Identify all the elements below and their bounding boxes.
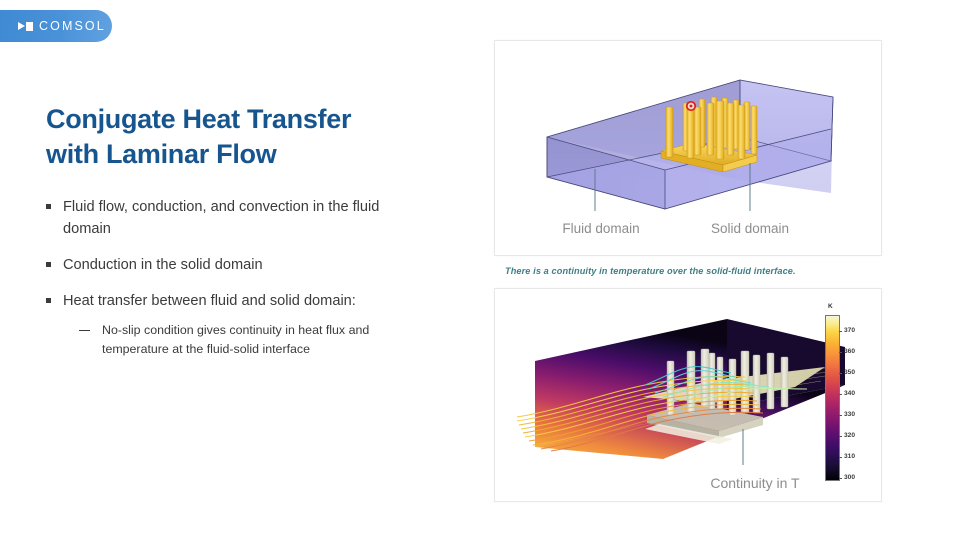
colorbar: K 370 360 350 340 330 320 310 300 [819,303,865,485]
comsol-mark-icon [18,22,33,31]
fluid-domain-label: Fluid domain [541,221,661,236]
list-item: Fluid flow, conduction, and convection i… [46,196,386,240]
bullet-dash-icon [79,330,90,331]
sub-bullet-text: No-slip condition gives continuity in he… [102,321,386,358]
solid-domain-label: Solid domain [690,221,810,236]
continuity-label: Continuity in T [675,475,835,491]
bullet-square-icon [46,262,51,267]
sub-list-item: No-slip condition gives continuity in he… [79,321,386,358]
brand-name: COMSOL [39,19,106,33]
colorbar-ticks: 370 360 350 340 330 320 310 300 [839,315,867,479]
comsol-logo-tab[interactable]: COMSOL [0,10,112,42]
list-item: Conduction in the solid domain [46,254,386,276]
bullet-square-icon [46,204,51,209]
colorbar-tick: 350 [844,370,855,377]
colorbar-unit-label: K [828,303,833,310]
figure-card-fluid-solid: Fluid domain Solid domain [494,40,882,256]
bullet-square-icon [46,298,51,303]
bullet-text: Fluid flow, conduction, and convection i… [63,196,386,240]
colorbar-tick: 320 [844,433,855,440]
bullet-list: Fluid flow, conduction, and convection i… [46,196,386,358]
colorbar-tick: 330 [844,412,855,419]
list-item: Heat transfer between fluid and solid do… [46,290,386,358]
figure-card-temperature: K 370 360 350 340 330 320 310 300 Contin… [494,288,882,502]
colorbar-gradient [825,315,840,481]
colorbar-tick: 310 [844,454,855,461]
colorbar-tick: 340 [844,391,855,398]
slide-title: Conjugate Heat Transfer with Laminar Flo… [46,102,366,172]
bullet-text: Conduction in the solid domain [63,254,386,276]
colorbar-tick: 370 [844,328,855,335]
colorbar-tick: 300 [844,475,855,482]
figure-caption: There is a continuity in temperature ove… [505,266,885,276]
colorbar-tick: 360 [844,349,855,356]
bullet-text: Heat transfer between fluid and solid do… [63,290,386,312]
